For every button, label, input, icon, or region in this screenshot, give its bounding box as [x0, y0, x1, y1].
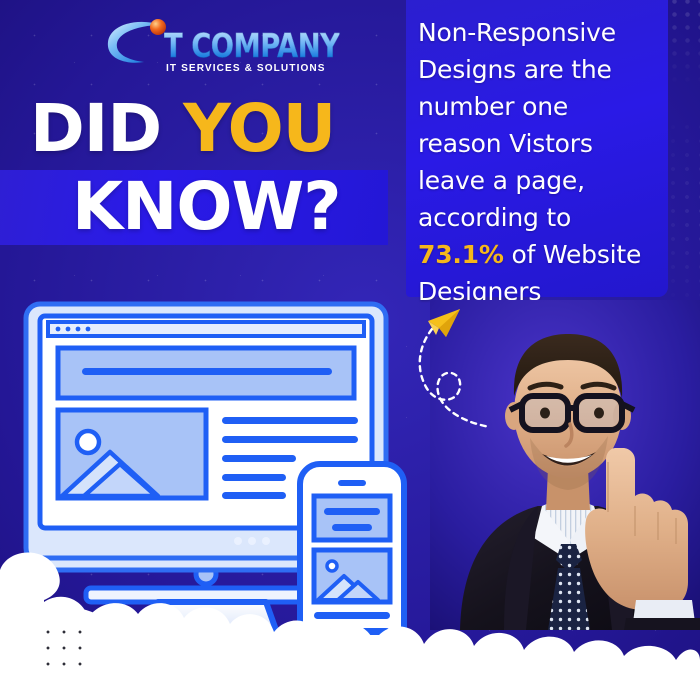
dashed-loop-trail-icon: [420, 329, 490, 427]
stat-panel: Non-Responsive Designs are the number on…: [406, 0, 668, 297]
cloud-shape-icon: [0, 540, 700, 700]
logo-row: T COMPANY: [104, 14, 404, 68]
brand-logo: T COMPANY IT SERVICES & SOLUTIONS: [104, 14, 404, 88]
swoosh-c-icon: [104, 18, 172, 66]
stat-highlight-percent: 73.1%: [418, 240, 504, 269]
dot-grid-icon: [38, 622, 90, 670]
headline-know: KNOW?: [72, 168, 430, 246]
headline-did: DID: [30, 90, 161, 167]
poster-canvas: T COMPANY IT SERVICES & SOLUTIONS DID YO…: [0, 0, 700, 700]
logo-wordmark: T COMPANY: [164, 26, 339, 65]
paper-plane-icon: [428, 309, 460, 337]
page-title: DID YOU KNOW?: [30, 90, 430, 246]
stat-text-part1: Non-Responsive Designs are the number on…: [418, 18, 616, 232]
logo-tagline: IT SERVICES & SOLUTIONS: [166, 62, 326, 74]
speaker-slot-icon: [338, 480, 366, 486]
image-placeholder-icon: [58, 410, 206, 498]
paper-plane-decoration: [412, 303, 507, 438]
stat-text: Non-Responsive Designs are the number on…: [418, 14, 658, 310]
headline-you: YOU: [183, 90, 335, 167]
